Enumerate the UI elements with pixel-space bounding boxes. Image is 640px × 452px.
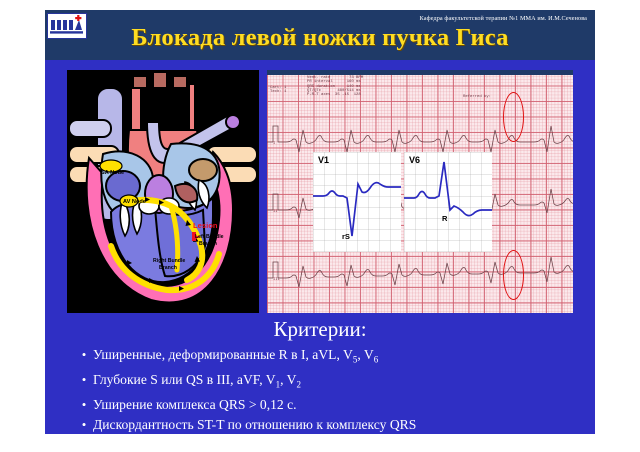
- criteria-item-1-text: Уширенные, деформированные R в I, aVL, V…: [93, 346, 378, 369]
- presentation-slide: Кафедра факультетской терапии №1 ММА им.…: [45, 10, 595, 434]
- criteria-item-2: • Глубокие S или QS в III, aVF, V1, V2: [75, 371, 575, 394]
- sa-node-label: SA Node: [101, 170, 124, 176]
- av-node-label: AV Node: [123, 199, 146, 205]
- lesion-label: Lesion: [193, 221, 218, 230]
- left-bundle-branch-label-2: Branch: [199, 241, 217, 247]
- ecg-inset-v6: V6 R: [404, 152, 492, 252]
- left-bundle-branch-label: Left Bundle: [195, 234, 224, 240]
- right-bundle-branch-label-2: Branch: [159, 265, 177, 271]
- heart-anatomy-diagram: SA Node AV Node Lesion Left Bundle Branc…: [67, 70, 259, 313]
- criteria-list: • Уширенные, деформированные R в I, aVL,…: [75, 346, 575, 434]
- slide-header: Кафедра факультетской терапии №1 ММА им.…: [45, 10, 595, 60]
- mma-logo: [47, 13, 87, 39]
- right-bundle-branch-label: Right Bundle: [153, 258, 185, 264]
- criteria-item-1: • Уширенные, деформированные R в I, aVL,…: [75, 346, 575, 369]
- criteria-item-3: • Уширение комплекса QRS > 0,12 с.: [75, 396, 575, 413]
- v1-morphology-note: rS: [342, 232, 350, 241]
- bullet-icon: •: [75, 396, 93, 413]
- criteria-heading: Критерии:: [45, 317, 595, 342]
- criteria-item-3-text: Уширение комплекса QRS > 0,12 с.: [93, 396, 297, 413]
- inset-label-v6: V6: [409, 155, 420, 165]
- bullet-icon: •: [75, 346, 93, 363]
- criteria-item-4: • Дискордантность ST-T по отношению к ко…: [75, 416, 575, 433]
- bullet-icon: •: [75, 371, 93, 388]
- ecg-annotation-circle-top: [503, 92, 524, 142]
- inset-label-v1: V1: [318, 155, 329, 165]
- criteria-item-2-text: Глубокие S или QS в III, aVF, V1, V2: [93, 371, 301, 394]
- bullet-icon: •: [75, 416, 93, 433]
- v6-morphology-note: R: [442, 214, 447, 223]
- ecg-annotation-circle-bottom: [503, 250, 524, 300]
- slide-title: Блокада левой ножки пучка Гиса: [45, 24, 595, 52]
- department-line: Кафедра факультетской терапии №1 ММА им.…: [420, 15, 587, 22]
- ecg-strip: Vent. rate 73 BPM PR interval 160 ms QRS…: [267, 70, 573, 313]
- criteria-item-4-text: Дискордантность ST-T по отношению к комп…: [93, 416, 416, 433]
- ecg-inset-v1: V1 rS: [313, 152, 401, 252]
